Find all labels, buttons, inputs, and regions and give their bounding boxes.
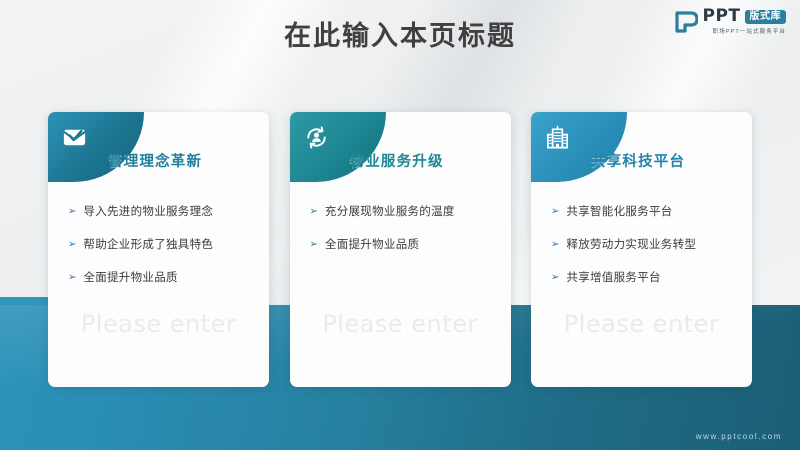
list-item: ➢ 共享智能化服务平台 [551, 204, 740, 219]
list-item-label: 导入先进的物业服务理念 [83, 204, 213, 219]
list-item-label: 共享增值服务平台 [566, 270, 660, 285]
ppt-p-logo-icon [674, 10, 698, 34]
list-item-label: 释放劳动力实现业务转型 [566, 237, 696, 252]
card-placeholder-text[interactable]: Please enter [48, 310, 269, 338]
logo-wordmark: PPT [702, 8, 740, 25]
list-item: ➢ 释放劳动力实现业务转型 [551, 237, 740, 252]
slide-canvas: www.pptcool.com 在此输入本页标题 PPT 版式库 职场PPT一站… [0, 0, 800, 450]
card-corner-badge [531, 112, 627, 182]
bullet-arrow-icon: ➢ [551, 204, 559, 219]
card-placeholder-text[interactable]: Please enter [531, 310, 752, 338]
logo-primary-row: PPT 版式库 [702, 8, 786, 25]
bullet-arrow-icon: ➢ [68, 270, 76, 285]
bullet-arrow-icon: ➢ [310, 204, 318, 219]
list-item: ➢ 帮助企业形成了独具特色 [68, 237, 257, 252]
list-item: ➢ 导入先进的物业服务理念 [68, 204, 257, 219]
card-title: 共享科技平台 [591, 150, 685, 171]
card-bullet-list: ➢ 充分展现物业服务的温度 ➢ 全面提升物业品质 [310, 204, 499, 270]
list-item-label: 帮助企业形成了独具特色 [83, 237, 213, 252]
bullet-arrow-icon: ➢ [551, 270, 559, 285]
card-title: 物业服务升级 [350, 150, 444, 171]
list-item-label: 全面提升物业品质 [83, 270, 177, 285]
content-card[interactable]: 物业服务升级 ➢ 充分展现物业服务的温度 ➢ 全面提升物业品质 Please e… [290, 112, 511, 387]
card-bullet-list: ➢ 共享智能化服务平台 ➢ 释放劳动力实现业务转型 ➢ 共享增值服务平台 [551, 204, 740, 303]
list-item-label: 共享智能化服务平台 [566, 204, 672, 219]
list-item: ➢ 全面提升物业品质 [68, 270, 257, 285]
list-item: ➢ 共享增值服务平台 [551, 270, 740, 285]
list-item: ➢ 充分展现物业服务的温度 [310, 204, 499, 219]
user-refresh-icon [303, 124, 330, 151]
bullet-arrow-icon: ➢ [551, 237, 559, 252]
bullet-arrow-icon: ➢ [68, 204, 76, 219]
card-bullet-list: ➢ 导入先进的物业服务理念 ➢ 帮助企业形成了独具特色 ➢ 全面提升物业品质 [68, 204, 257, 303]
envelope-check-icon [61, 124, 88, 151]
card-corner-badge [48, 112, 144, 182]
card-row: 管理理念革新 ➢ 导入先进的物业服务理念 ➢ 帮助企业形成了独具特色 ➢ 全面提… [48, 112, 752, 387]
band-left-step [0, 297, 50, 305]
list-item-label: 充分展现物业服务的温度 [325, 204, 455, 219]
content-card[interactable]: 共享科技平台 ➢ 共享智能化服务平台 ➢ 释放劳动力实现业务转型 ➢ 共享增值服… [531, 112, 752, 387]
bullet-arrow-icon: ➢ [310, 237, 318, 252]
content-card[interactable]: 管理理念革新 ➢ 导入先进的物业服务理念 ➢ 帮助企业形成了独具特色 ➢ 全面提… [48, 112, 269, 387]
office-building-icon [544, 124, 571, 151]
card-placeholder-text[interactable]: Please enter [290, 310, 511, 338]
card-corner-badge [290, 112, 386, 182]
brand-logo: PPT 版式库 职场PPT一站式服务平台 [674, 8, 786, 35]
bullet-arrow-icon: ➢ [68, 237, 76, 252]
logo-badge: 版式库 [745, 10, 787, 24]
card-title: 管理理念革新 [108, 150, 202, 171]
logo-subtitle: 职场PPT一站式服务平台 [702, 27, 786, 35]
list-item-label: 全面提升物业品质 [325, 237, 419, 252]
list-item: ➢ 全面提升物业品质 [310, 237, 499, 252]
footer-url: www.pptcool.com [696, 432, 782, 441]
logo-text-block: PPT 版式库 职场PPT一站式服务平台 [702, 8, 786, 35]
